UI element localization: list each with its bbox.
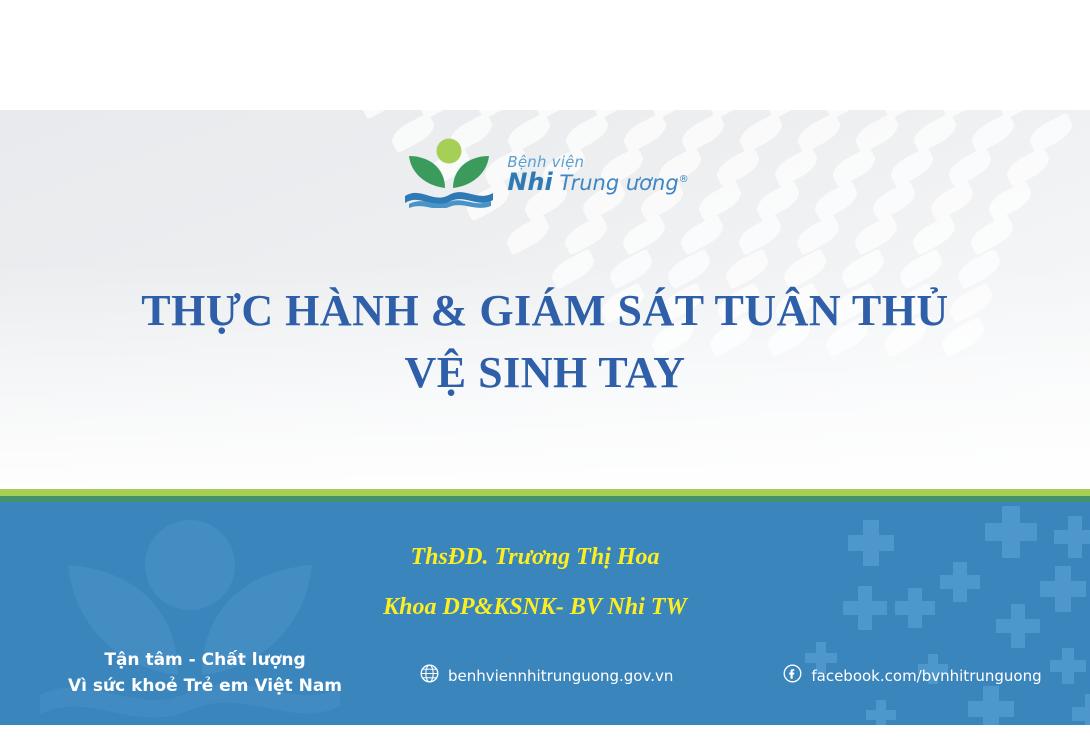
presenter-info: ThsĐD. Trương Thị Hoa Khoa DP&KSNK- BV N… bbox=[0, 532, 1090, 632]
logo-word-nhi: Nhi bbox=[507, 168, 552, 196]
slide-page: Bệnh viện Nhi Trung ương® THỰC HÀNH & GI… bbox=[0, 0, 1090, 754]
decor-cross-icon bbox=[968, 686, 1014, 725]
presenter-name: ThsĐD. Trương Thị Hoa bbox=[0, 532, 1070, 582]
title-slide: Bệnh viện Nhi Trung ương® THỰC HÀNH & GI… bbox=[0, 110, 1090, 725]
title-line-2: VỆ SINH TAY bbox=[0, 342, 1090, 404]
slide-title: THỰC HÀNH & GIÁM SÁT TUÂN THỦ VỆ SINH TA… bbox=[0, 280, 1090, 404]
slogan-line-1: Tận tâm - Chất lượng bbox=[55, 647, 355, 673]
lotus-leaf-logo-icon bbox=[401, 138, 497, 208]
presenter-affiliation: Khoa DP&KSNK- BV Nhi TW bbox=[0, 582, 1070, 632]
divider-bar-light-green bbox=[0, 489, 1090, 496]
logo-word-trunguong: Trung ương bbox=[553, 171, 679, 195]
decor-cross-icon bbox=[1072, 694, 1090, 725]
globe-icon bbox=[420, 664, 439, 687]
website-url: benhviennhitrunguong.gov.vn bbox=[448, 667, 673, 685]
decor-cross-icon bbox=[866, 700, 896, 725]
registered-trademark-icon: ® bbox=[679, 174, 689, 185]
slogan-line-2: Vì sức khoẻ Trẻ em Việt Nam bbox=[55, 673, 355, 699]
facebook-icon bbox=[783, 664, 802, 687]
contact-links: benhviennhitrunguong.gov.vn facebook.com… bbox=[420, 664, 1060, 687]
title-line-1: THỰC HÀNH & GIÁM SÁT TUÂN THỦ bbox=[0, 280, 1090, 342]
facebook-url: facebook.com/bvnhitrunguong bbox=[811, 667, 1041, 685]
hospital-slogan: Tận tâm - Chất lượng Vì sức khoẻ Trẻ em … bbox=[55, 647, 355, 699]
facebook-link[interactable]: facebook.com/bvnhitrunguong bbox=[783, 664, 1041, 687]
hospital-logo-wordmark: Bệnh viện Nhi Trung ương® bbox=[507, 155, 688, 196]
hospital-logo: Bệnh viện Nhi Trung ương® bbox=[0, 138, 1090, 208]
website-link[interactable]: benhviennhitrunguong.gov.vn bbox=[420, 664, 673, 687]
bottom-white-margin bbox=[0, 725, 1090, 754]
logo-line-2: Nhi Trung ương® bbox=[507, 170, 688, 195]
top-white-margin bbox=[0, 0, 1090, 110]
footer-band: ThsĐD. Trương Thị Hoa Khoa DP&KSNK- BV N… bbox=[0, 502, 1090, 725]
